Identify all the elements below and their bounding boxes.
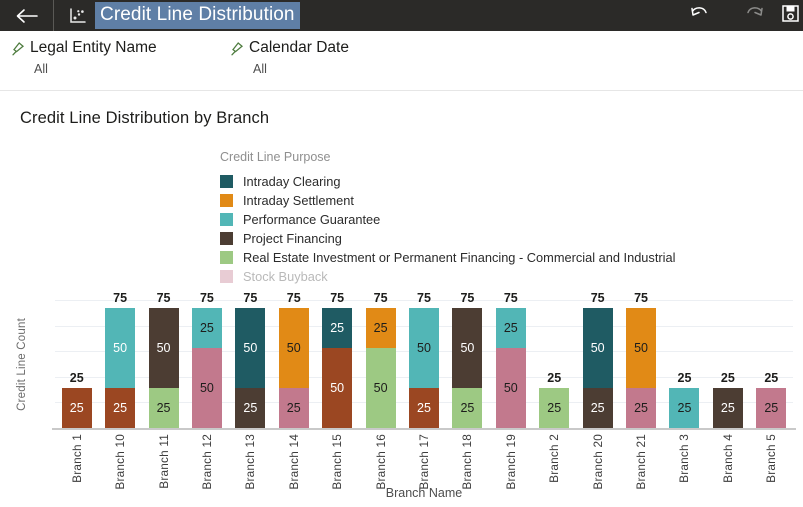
bar-segment-value: 50 xyxy=(417,342,431,355)
filter-header: Legal Entity Name xyxy=(12,39,157,57)
bar-segment-value: 50 xyxy=(287,342,301,355)
x-tick-label[interactable]: Branch 12 xyxy=(192,434,222,492)
filter-legal-entity-name[interactable]: Legal Entity Name All xyxy=(12,39,157,76)
x-tick-label-text: Branch 18 xyxy=(460,434,474,490)
bar-segment-value: 25 xyxy=(417,402,431,415)
bar-segment-value: 25 xyxy=(243,402,257,415)
bar-total-label: 25 xyxy=(713,371,743,385)
bar-segment-value: 25 xyxy=(287,402,301,415)
bar-total-label: 75 xyxy=(366,291,396,305)
bar-segment[interactable]: 50 xyxy=(583,308,613,388)
bar-total-label: 75 xyxy=(192,291,222,305)
bar-stack[interactable]: 2525 xyxy=(539,388,569,428)
legend-swatch xyxy=(220,232,233,245)
bar-segment[interactable]: 25 xyxy=(192,308,222,348)
bar-segment-value: 25 xyxy=(330,322,344,335)
bar-segment-value: 25 xyxy=(200,322,214,335)
bar-segment-value: 25 xyxy=(634,402,648,415)
bar-total-label: 75 xyxy=(279,291,309,305)
x-tick-label-text: Branch 20 xyxy=(591,434,605,490)
bar-segment-value: 25 xyxy=(764,402,778,415)
bar-total-label: 75 xyxy=(105,291,135,305)
x-axis-label: Branch Name xyxy=(55,486,793,500)
bar-stack[interactable]: 502575 xyxy=(105,308,135,428)
bar-segment-value: 50 xyxy=(374,382,388,395)
scatter-chart-icon xyxy=(63,0,93,31)
bar-segment-value: 25 xyxy=(460,402,474,415)
bar-total-label: 75 xyxy=(149,291,179,305)
chart-legend: Credit Line Purpose Intraday ClearingInt… xyxy=(220,150,800,285)
legend-swatch xyxy=(220,270,233,283)
plot-area: 2525502575502575255075502575502575255075… xyxy=(0,300,803,507)
bar-total-label: 75 xyxy=(235,291,265,305)
x-tick-label[interactable]: Branch 10 xyxy=(105,434,135,492)
bar-segment[interactable]: 25 xyxy=(452,388,482,428)
back-arrow-icon xyxy=(15,7,39,25)
filter-calendar-date[interactable]: Calendar Date All xyxy=(231,39,349,76)
legend-item[interactable]: Project Financing xyxy=(220,229,800,248)
bar-segment[interactable]: 25 xyxy=(235,388,265,428)
legend-item-label: Real Estate Investment or Permanent Fina… xyxy=(243,250,675,265)
bar-stack[interactable]: 255075 xyxy=(496,308,526,428)
bar-segment[interactable]: 25 xyxy=(583,388,613,428)
bar-total-label: 25 xyxy=(756,371,786,385)
x-tick-label[interactable]: Branch 21 xyxy=(626,434,656,492)
bar-segment[interactable]: 50 xyxy=(192,348,222,428)
bar-segment-value: 25 xyxy=(721,402,735,415)
x-tick-label-text: Branch 1 xyxy=(70,434,84,483)
x-tick-label-text: Branch 4 xyxy=(721,434,735,483)
legend-item-label: Performance Guarantee xyxy=(243,212,380,227)
bar-total-label: 75 xyxy=(322,291,352,305)
legend-item-label: Intraday Settlement xyxy=(243,193,354,208)
x-tick-label-text: Branch 13 xyxy=(243,434,257,490)
bar-stack[interactable]: 502575 xyxy=(583,308,613,428)
x-tick-label-text: Branch 5 xyxy=(764,434,778,483)
bar-segment[interactable]: 50 xyxy=(235,308,265,388)
bar-stack[interactable]: 2525 xyxy=(62,388,92,428)
bar-segment[interactable]: 50 xyxy=(279,308,309,388)
x-tick-label[interactable]: Branch 5 xyxy=(756,434,786,492)
bar-stack[interactable]: 502575 xyxy=(626,308,656,428)
bar-segment[interactable]: 25 xyxy=(409,388,439,428)
plot-canvas: 2525502575502575255075502575502575255075… xyxy=(55,300,793,428)
bar-segment-value: 50 xyxy=(200,382,214,395)
bar-segment-value: 25 xyxy=(678,402,692,415)
bar-segment[interactable]: 25 xyxy=(539,388,569,428)
legend-item[interactable]: Stock Buyback xyxy=(220,267,800,285)
legend-item[interactable]: Performance Guarantee xyxy=(220,210,800,229)
bar-segment-value: 25 xyxy=(547,402,561,415)
legend-items: Intraday ClearingIntraday SettlementPerf… xyxy=(220,172,800,285)
bar-stack[interactable]: 502575 xyxy=(409,308,439,428)
pin-icon xyxy=(12,41,25,56)
bar-segment-value: 25 xyxy=(157,402,171,415)
bar-segment-value: 50 xyxy=(634,342,648,355)
bar-segment-value: 25 xyxy=(113,402,127,415)
bar-stack[interactable]: 2525 xyxy=(669,388,699,428)
x-tick-label-text: Branch 2 xyxy=(547,434,561,483)
bar-segment-value: 50 xyxy=(113,342,127,355)
bar-stack[interactable]: 255075 xyxy=(192,308,222,428)
bar-segment[interactable]: 50 xyxy=(496,348,526,428)
bar-segment[interactable]: 25 xyxy=(626,388,656,428)
bar-segment[interactable]: 25 xyxy=(669,388,699,428)
x-tick-label[interactable]: Branch 18 xyxy=(452,434,482,492)
legend-swatch xyxy=(220,213,233,226)
bar-segment-value: 50 xyxy=(243,342,257,355)
x-tick-label[interactable]: Branch 11 xyxy=(149,434,179,492)
legend-item-label: Stock Buyback xyxy=(243,269,328,284)
bar-segment[interactable]: 50 xyxy=(366,348,396,428)
bar-segment-value: 50 xyxy=(330,382,344,395)
save-button[interactable] xyxy=(781,0,803,31)
bar-segment-value: 50 xyxy=(504,382,518,395)
x-tick-label[interactable]: Branch 15 xyxy=(322,434,352,492)
back-button[interactable] xyxy=(0,0,54,31)
x-tick-label[interactable]: Branch 17 xyxy=(409,434,439,492)
bar-segment-value: 25 xyxy=(504,322,518,335)
x-tick-label[interactable]: Branch 3 xyxy=(669,434,699,492)
bar-stack[interactable]: 2525 xyxy=(756,388,786,428)
filter-value[interactable]: All xyxy=(34,62,157,76)
filter-bar: Legal Entity Name All Calendar Date All xyxy=(0,31,803,91)
x-tick-label-text: Branch 17 xyxy=(417,434,431,490)
x-tick-label[interactable]: Branch 4 xyxy=(713,434,743,492)
legend-item[interactable]: Intraday Settlement xyxy=(220,191,800,210)
bar-stack[interactable]: 255075 xyxy=(322,308,352,428)
bar-stack[interactable]: 502575 xyxy=(235,308,265,428)
bar-segment[interactable]: 25 xyxy=(366,308,396,348)
bar-total-label: 25 xyxy=(62,371,92,385)
bar-segment[interactable]: 50 xyxy=(452,308,482,388)
filter-name: Calendar Date xyxy=(249,39,349,57)
bar-segment[interactable]: 25 xyxy=(713,388,743,428)
x-tick-label[interactable]: Branch 1 xyxy=(62,434,92,492)
x-tick-label[interactable]: Branch 16 xyxy=(366,434,396,492)
bar-segment[interactable]: 50 xyxy=(409,308,439,388)
bar-total-label: 25 xyxy=(669,371,699,385)
bar-series: 2525502575502575255075502575502575255075… xyxy=(55,300,793,428)
bar-stack[interactable]: 2525 xyxy=(713,388,743,428)
bar-segment-value: 50 xyxy=(591,342,605,355)
bar-total-label: 75 xyxy=(452,291,482,305)
redo-button[interactable] xyxy=(727,0,781,31)
bar-segment-value: 50 xyxy=(157,342,171,355)
legend-item-label: Project Financing xyxy=(243,231,342,246)
x-tick-label[interactable]: Branch 13 xyxy=(235,434,265,492)
x-tick-label[interactable]: Branch 2 xyxy=(539,434,569,492)
bar-segment[interactable]: 25 xyxy=(279,388,309,428)
x-tick-label-text: Branch 11 xyxy=(157,434,171,489)
bar-segment[interactable]: 25 xyxy=(105,388,135,428)
bar-segment[interactable]: 25 xyxy=(496,308,526,348)
legend-swatch xyxy=(220,175,233,188)
app-bar-actions xyxy=(673,0,803,31)
page-title[interactable]: Credit Line Distribution xyxy=(95,2,300,29)
filter-name: Legal Entity Name xyxy=(30,39,157,57)
filter-value[interactable]: All xyxy=(253,62,349,76)
bar-segment[interactable]: 25 xyxy=(62,388,92,428)
bar-total-label: 75 xyxy=(626,291,656,305)
legend-swatch xyxy=(220,194,233,207)
legend-title: Credit Line Purpose xyxy=(220,150,800,164)
bar-segment[interactable]: 50 xyxy=(105,308,135,388)
save-icon xyxy=(782,4,802,28)
x-tick-label-text: Branch 19 xyxy=(504,434,518,490)
undo-button[interactable] xyxy=(673,0,727,31)
x-tick-label-text: Branch 14 xyxy=(287,434,301,490)
bar-segment[interactable]: 50 xyxy=(322,348,352,428)
x-tick-label-text: Branch 10 xyxy=(113,434,127,490)
bar-total-label: 75 xyxy=(409,291,439,305)
bar-segment[interactable]: 25 xyxy=(149,388,179,428)
x-tick-label[interactable]: Branch 14 xyxy=(279,434,309,492)
bar-total-label: 75 xyxy=(496,291,526,305)
x-tick-label[interactable]: Branch 19 xyxy=(496,434,526,492)
bar-total-label: 75 xyxy=(583,291,613,305)
bar-segment[interactable]: 25 xyxy=(322,308,352,348)
bar-total-label: 25 xyxy=(539,371,569,385)
x-tick-label-text: Branch 3 xyxy=(677,434,691,483)
x-tick-label[interactable]: Branch 20 xyxy=(583,434,613,492)
x-tick-label-text: Branch 21 xyxy=(634,434,648,490)
legend-item[interactable]: Real Estate Investment or Permanent Fina… xyxy=(220,248,800,267)
x-axis-tick-labels: Branch 1Branch 10Branch 11Branch 12Branc… xyxy=(55,434,793,494)
x-tick-label-text: Branch 12 xyxy=(200,434,214,490)
x-tick-label-text: Branch 15 xyxy=(330,434,344,490)
bar-segment-value: 50 xyxy=(460,342,474,355)
legend-item[interactable]: Intraday Clearing xyxy=(220,172,800,191)
x-tick-label-text: Branch 16 xyxy=(374,434,388,490)
bar-segment-value: 25 xyxy=(591,402,605,415)
bar-stack[interactable]: 502575 xyxy=(279,308,309,428)
bar-segment[interactable]: 50 xyxy=(626,308,656,388)
app-bar: Credit Line Distribution xyxy=(0,0,803,31)
x-axis-line xyxy=(52,428,796,430)
bar-segment[interactable]: 25 xyxy=(756,388,786,428)
filter-header: Calendar Date xyxy=(231,39,349,57)
undo-icon xyxy=(689,4,711,27)
bar-segment-value: 25 xyxy=(374,322,388,335)
chart-title: Credit Line Distribution by Branch xyxy=(20,109,269,128)
bar-stack[interactable]: 502575 xyxy=(452,308,482,428)
redo-icon xyxy=(743,4,765,27)
legend-swatch xyxy=(220,251,233,264)
bar-stack[interactable]: 255075 xyxy=(366,308,396,428)
bar-segment-value: 25 xyxy=(70,402,84,415)
bar-stack[interactable]: 502575 xyxy=(149,308,179,428)
bar-segment[interactable]: 50 xyxy=(149,308,179,388)
pin-icon xyxy=(231,41,244,56)
legend-item-label: Intraday Clearing xyxy=(243,174,340,189)
